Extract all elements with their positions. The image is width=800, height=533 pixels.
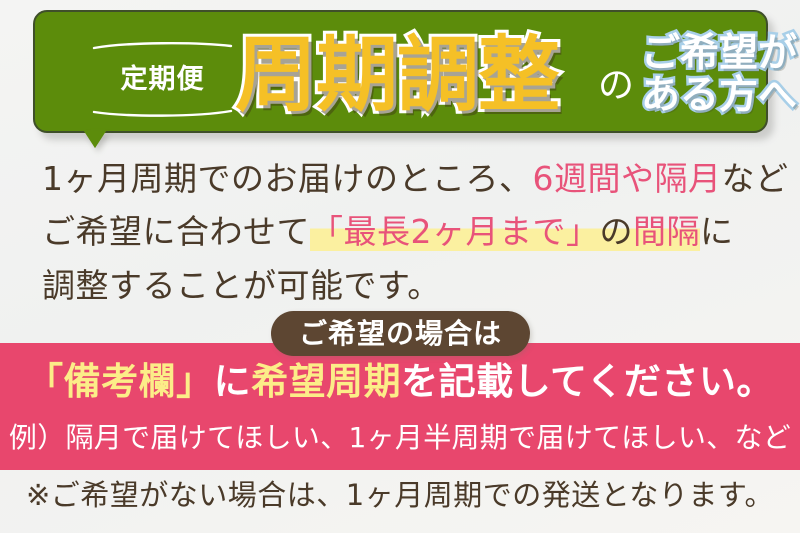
body-line-3: 調整することが可能です。 (42, 259, 762, 312)
body-line-1-part-a: 1ヶ月周期でのお届けのところ、 (42, 159, 533, 198)
pink-part-b: に (214, 360, 252, 403)
wavy-rule-bottom-icon (92, 108, 233, 118)
body-paragraph: 1ヶ月周期でのお届けのところ、6週間や隔月など ご希望に合わせて「最長2ヶ月まで… (42, 152, 762, 312)
kicker-group: 定期便 (90, 46, 235, 112)
body-line-2-part-e: に (700, 212, 734, 251)
balloon-tail-icon (84, 131, 106, 148)
body-line-2-highlight-interval: 間隔 (633, 212, 700, 251)
status-badge-label: ご希望の場合は (299, 320, 502, 348)
headline-aside-line-2: ある方へ (639, 76, 799, 116)
pink-band-main-line: 「備考欄」に希望周期を記載してください。 (0, 363, 800, 400)
body-line-1: 1ヶ月周期でのお届けのところ、6週間や隔月など (42, 152, 762, 205)
kicker-label: 定期便 (121, 66, 205, 93)
header-banner: 定期便 周期調整 の ご希望が ある方へ (33, 10, 768, 133)
headline-title: 周期調整 (235, 35, 559, 117)
status-badge: ご希望の場合は (271, 311, 530, 356)
pink-part-d: を記載してください。 (401, 360, 774, 403)
body-line-2-part-a: ご希望に合わせて (42, 212, 310, 251)
footnote-text: ※ご希望がない場合は、1ヶ月周期での発送となります。 (0, 481, 800, 510)
pink-accent-cycle: 希望周期 (251, 360, 401, 403)
body-line-1-part-c: など (722, 159, 789, 198)
body-line-2-part-c: の (600, 212, 634, 251)
body-line-2: ご希望に合わせて「最長2ヶ月まで」の間隔に (42, 205, 762, 258)
body-line-1-accent: 6週間や隔月 (533, 159, 722, 198)
headline-particle: の (598, 68, 634, 104)
headline-aside-line-1: ご希望が (639, 34, 799, 74)
body-line-2-highlight-quote: 「最長2ヶ月まで」 (310, 212, 600, 251)
pink-band-example-line: 例）隔月で届けてほしい、1ヶ月半周期で届けてほしい、など (0, 424, 800, 452)
wavy-rule-top-icon (92, 41, 233, 51)
pink-accent-remarks: 「備考欄」 (26, 360, 214, 403)
headline-aside: ご希望が ある方へ (639, 34, 799, 116)
